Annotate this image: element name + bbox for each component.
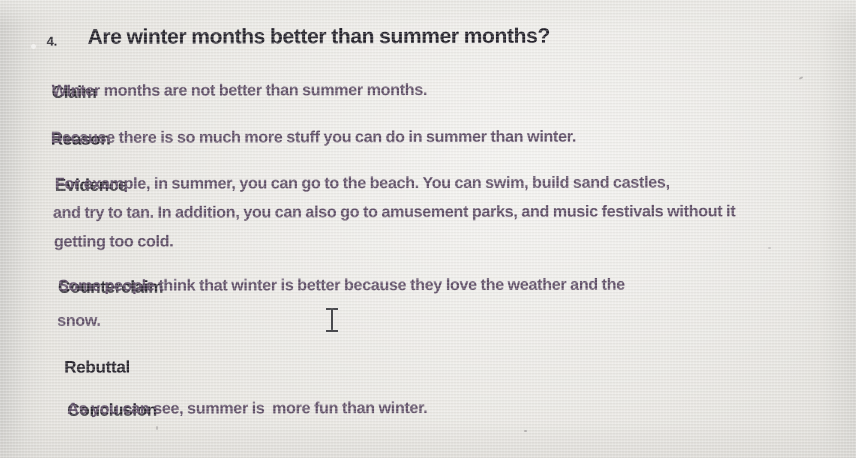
section-text-counterclaim-line-2: snow. (57, 313, 101, 331)
section-text-evidence-line-1: For example, in summer, you can go to th… (55, 174, 670, 193)
section-text-evidence-line-3: getting too cold. (54, 234, 173, 252)
section-text-conclusion: As you can see, summer is more fun than … (67, 400, 427, 419)
section-text-claim: WInter months are not better than summer… (52, 82, 428, 101)
document-photo-screenshot: 4. Are winter months better than summer … (0, 0, 856, 458)
question-heading: Are winter months better than summer mon… (88, 25, 550, 50)
document-body: 4. Are winter months better than summer … (0, 0, 856, 458)
section-text-evidence-line-2: and try to tan. In addition, you can als… (53, 203, 735, 222)
question-number: 4. (47, 34, 57, 49)
section-label-rebuttal: Rebuttal (64, 358, 136, 378)
section-text-counterclaim-line-1: Some people think that winter is better … (58, 277, 625, 296)
section-text-reason: Because there is so much more stuff you … (51, 129, 576, 148)
